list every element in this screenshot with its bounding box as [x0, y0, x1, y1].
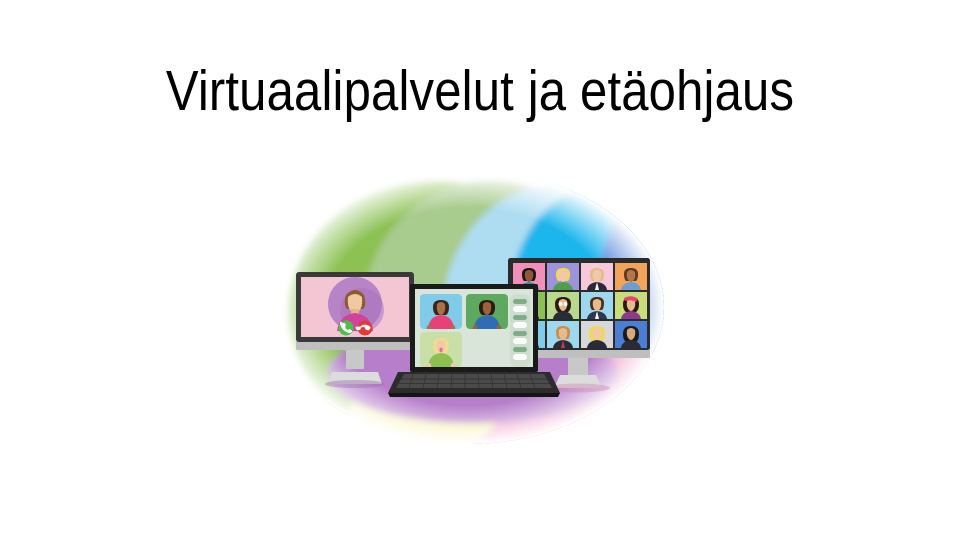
laptop-base-front	[388, 393, 560, 397]
chat-row-2-pill	[513, 315, 527, 320]
presentation-slide: Virtuaalipalvelut ja etäohjaus	[0, 0, 960, 540]
video-conferencing-illustration	[258, 162, 678, 452]
grid-tile-r1c3[interactable]	[581, 263, 613, 290]
grid-tile-r3c2[interactable]	[547, 321, 579, 348]
chat-row-4-field	[513, 354, 527, 360]
chat-row-1-field	[513, 306, 527, 312]
chat-row-4-pill	[513, 347, 527, 352]
grid-tile-r3c4[interactable]	[615, 321, 647, 348]
chat-row-2-field	[513, 322, 527, 328]
laptop-video-meeting	[388, 284, 560, 397]
chat-sidebar[interactable]	[510, 294, 530, 367]
participant-tile-2[interactable]	[466, 294, 508, 329]
chat-row-3-pill	[513, 331, 527, 336]
grid-tile-r1c4[interactable]	[615, 263, 647, 290]
grid-tile-r3c3[interactable]	[581, 321, 613, 348]
grid-tile-r2c2[interactable]	[547, 292, 579, 319]
page-title: Virtuaalipalvelut ja etäohjaus	[67, 58, 893, 125]
laptop-keyboard	[396, 374, 552, 388]
illustration-canvas	[258, 162, 678, 452]
grid-tile-r2c3[interactable]	[581, 292, 613, 319]
left-monitor-stand-neck	[346, 347, 364, 369]
participant-tile-3[interactable]	[420, 332, 462, 367]
grid-tile-r2c4[interactable]	[615, 292, 647, 319]
chat-row-3-field	[513, 338, 527, 344]
left-monitor-stand-shadow	[325, 380, 385, 388]
chat-row-1-pill	[513, 299, 527, 304]
answer-call-button[interactable]	[339, 321, 354, 336]
participant-tile-1[interactable]	[420, 294, 462, 329]
grid-tile-r1c2[interactable]	[547, 263, 579, 290]
